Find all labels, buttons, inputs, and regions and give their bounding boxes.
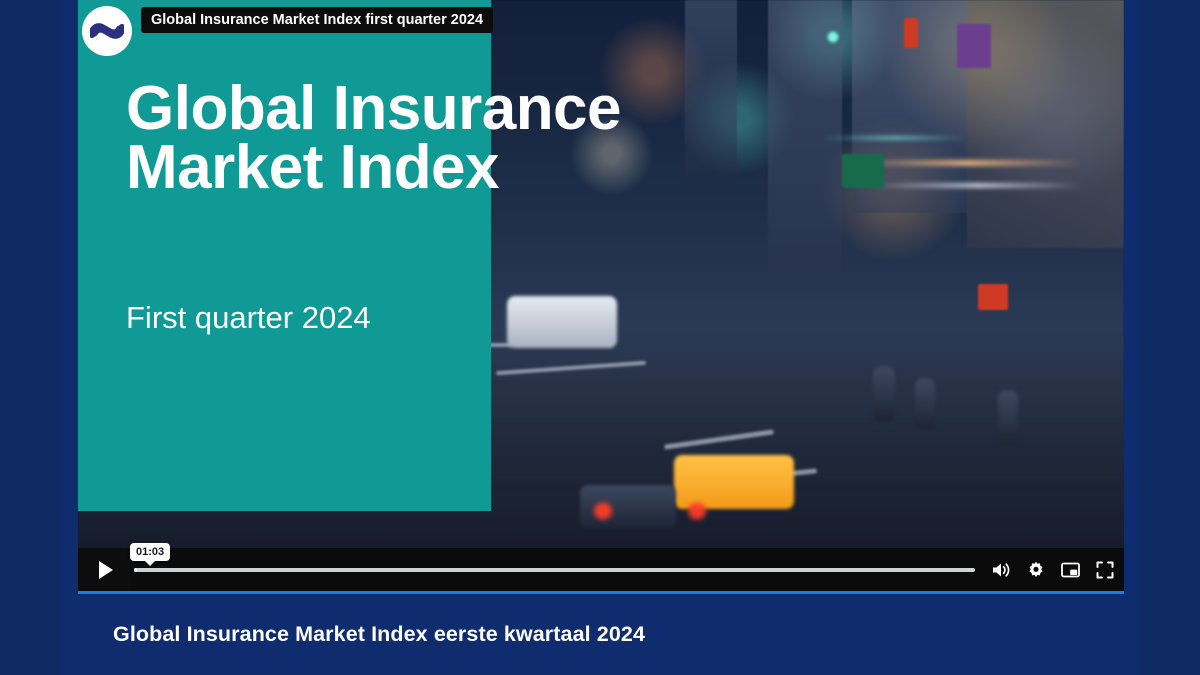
vehicle-tail-light bbox=[591, 502, 615, 520]
taxi bbox=[674, 455, 794, 509]
pedestrian bbox=[915, 378, 935, 430]
video-title-text: Global Insurance Market Index first quar… bbox=[151, 12, 483, 28]
control-bar-body bbox=[130, 548, 1124, 591]
video-player[interactable]: Global Insurance Market Index First quar… bbox=[78, 0, 1124, 591]
marquee-light-streak bbox=[873, 183, 1082, 188]
playhead-time-tooltip: 01:03 bbox=[130, 543, 170, 561]
video-title-chip[interactable]: Global Insurance Market Index first quar… bbox=[141, 7, 493, 33]
building-silhouette bbox=[967, 0, 1124, 248]
caption-bar: Global Insurance Market Index eerste kwa… bbox=[78, 594, 1124, 675]
slide-heading: Global Insurance Market Index bbox=[126, 80, 886, 198]
street-sign bbox=[978, 284, 1008, 310]
pedestrian bbox=[998, 390, 1018, 446]
progress-scrubber[interactable] bbox=[134, 568, 975, 572]
street-sign bbox=[957, 24, 991, 68]
slide-subheading: First quarter 2024 bbox=[126, 300, 371, 336]
vehicle-tail-light bbox=[685, 502, 709, 520]
gear-icon[interactable] bbox=[1027, 561, 1045, 579]
page-background-right bbox=[1140, 0, 1200, 675]
picture-in-picture-icon[interactable] bbox=[1061, 562, 1080, 578]
utility-truck bbox=[507, 296, 617, 348]
page-background-left bbox=[0, 0, 60, 675]
caption-headline: Global Insurance Market Index eerste kwa… bbox=[113, 622, 645, 647]
volume-icon[interactable] bbox=[991, 561, 1011, 579]
progress-fill bbox=[134, 568, 137, 572]
marsh-logo-icon[interactable] bbox=[82, 6, 132, 56]
play-button[interactable] bbox=[78, 548, 130, 591]
pedestrian bbox=[873, 366, 895, 422]
playhead-time-text: 01:03 bbox=[136, 546, 164, 558]
play-icon bbox=[99, 561, 113, 579]
traffic-light-icon bbox=[826, 30, 840, 44]
control-icon-group bbox=[991, 561, 1114, 579]
marquee-light-streak bbox=[852, 160, 1082, 166]
street-sign bbox=[904, 18, 918, 48]
fullscreen-icon[interactable] bbox=[1096, 561, 1114, 579]
video-control-bar[interactable] bbox=[78, 548, 1124, 591]
